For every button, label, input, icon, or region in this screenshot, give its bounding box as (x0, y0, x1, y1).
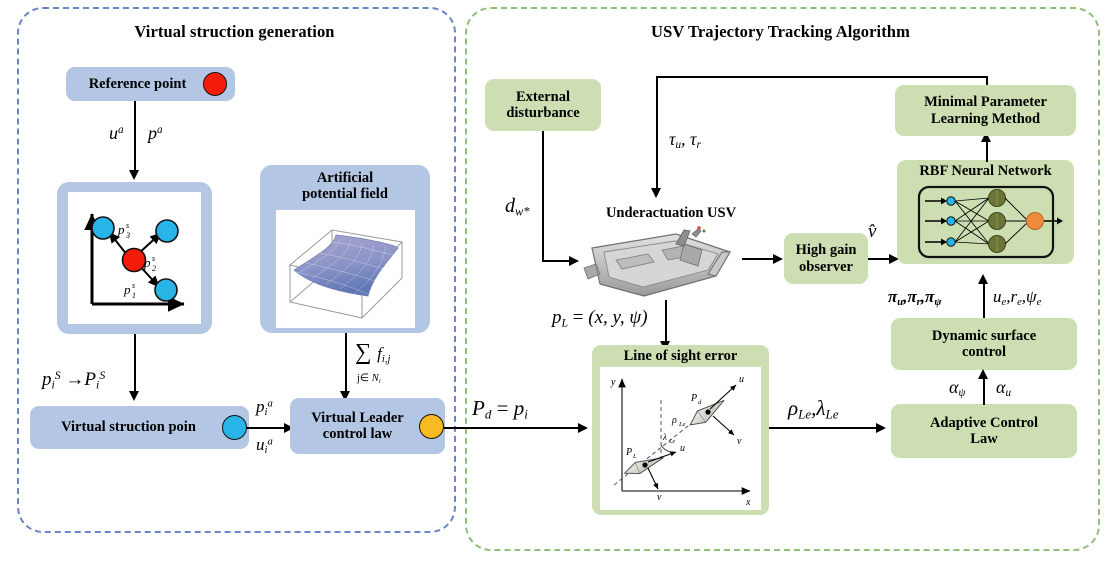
external-disturbance-line1: External (516, 89, 570, 105)
connector-dsc-to-rbf (983, 281, 985, 318)
dsc-line1: Dynamic surface (932, 328, 1036, 344)
connector-structure-to-point (134, 334, 136, 397)
virtual-leader-line1: Virtual Leader (311, 410, 404, 426)
connector-ref-to-structure (134, 101, 136, 176)
box-virtual-struction-point[interactable]: Virtual struction poin (30, 406, 249, 449)
svg-text:L: L (632, 453, 637, 460)
edge-label-alpha-u: αu (996, 378, 1011, 399)
rbf-network-graph (905, 184, 1068, 260)
box-minimal-parameter-learning-method[interactable]: Minimal Parameter Learning Method (895, 85, 1076, 136)
acl-line2: Law (970, 431, 997, 447)
acl-line1: Adaptive Control (930, 415, 1038, 431)
arrowhead-dsc-to-rbf (978, 274, 988, 284)
svg-text:v: v (657, 492, 662, 503)
edge-label-sum-f: ∑ fi,j (355, 340, 390, 365)
virtual-structure-scatter-picture: p 3 s p 2 s p 1 s (68, 192, 201, 324)
box-external-disturbance[interactable]: External disturbance (485, 79, 601, 131)
apf-title-line2: potential field (302, 186, 388, 202)
arrowhead-tau-to-usv (651, 188, 661, 198)
svg-text:d: d (698, 399, 702, 406)
svg-text:Le: Le (668, 439, 675, 445)
svg-text:s: s (152, 254, 155, 263)
svg-text:u: u (739, 374, 744, 385)
svg-text:u: u (680, 443, 685, 454)
arrowhead-acl-to-dsc (978, 369, 988, 379)
virtual-leader-line2: control law (323, 426, 392, 442)
virtual-leader-dot (419, 414, 444, 439)
los-diagram-svg: y x P d u v (600, 367, 761, 510)
apf-picture (276, 210, 415, 328)
svg-text:1: 1 (132, 291, 136, 300)
connector-disturbance-v (542, 131, 544, 262)
los-title: Line of sight error (624, 348, 738, 364)
dsc-line2: control (962, 344, 1006, 360)
virtual-structure-svg: p 3 s p 2 s p 1 s (68, 192, 201, 324)
box-reference-point-label: Reference point (89, 76, 187, 92)
svg-text:ρ: ρ (671, 415, 677, 426)
edge-label-tau: τu, τr (669, 130, 701, 151)
edge-label-p-L: pL = (x, y, ψ) (552, 308, 648, 329)
box-virtual-struction-point-label: Virtual struction poin (61, 419, 196, 435)
mplm-line1: Minimal Parameter (924, 94, 1047, 110)
edge-label-alpha-psi: αψ (949, 378, 965, 399)
edge-label-v-hat: v̂ (868, 222, 876, 241)
arrowhead-ref-to-structure (129, 170, 139, 180)
edge-label-struct-transform: piS →PiS (42, 370, 105, 391)
edge-label-d-w: dw* (505, 196, 529, 218)
edge-label-u-a: ua (109, 124, 124, 142)
edge-label-sum-sub: j∈ Ni (357, 374, 381, 385)
svg-text:s: s (132, 281, 135, 290)
edge-label-error-group: ue,re,ψe (993, 288, 1041, 308)
arrowhead-los-to-acl (876, 423, 886, 433)
svg-text:p: p (143, 255, 151, 270)
connector-tau-h (656, 76, 988, 78)
svg-text:s: s (126, 221, 129, 230)
usv-boat-illustration (580, 222, 745, 306)
panel-right-title: USV Trajectory Tracking Algorithm (465, 22, 1096, 42)
svg-text:P: P (690, 393, 697, 404)
box-high-gain-observer[interactable]: High gain observer (784, 233, 868, 284)
box-dynamic-surface-control[interactable]: Dynamic surface control (891, 318, 1077, 370)
high-gain-line2: observer (799, 259, 853, 275)
reference-point-dot (203, 72, 227, 96)
label-underactuation-usv: Underactuation USV (578, 205, 764, 222)
virtual-struction-point-dot (222, 415, 247, 440)
svg-text:Le: Le (678, 421, 686, 428)
box-adaptive-control-law[interactable]: Adaptive Control Law (891, 404, 1077, 458)
apf-surface-svg (276, 210, 415, 328)
panel-left-title: Virtual struction generation (17, 22, 452, 42)
connector-leader-to-los (444, 427, 586, 429)
connector-tau-v (656, 76, 658, 195)
mplm-line2: Learning Method (931, 111, 1040, 127)
arrowhead-structure-to-point (129, 391, 139, 401)
svg-text:2: 2 (152, 264, 156, 273)
connector-point-to-leader (247, 427, 289, 429)
high-gain-line1: High gain (796, 242, 857, 258)
arrowhead-leader-to-los (578, 423, 588, 433)
svg-text:P: P (625, 447, 632, 458)
svg-text:p: p (117, 222, 125, 237)
connector-acl-to-dsc (983, 375, 985, 405)
edge-label-p-i-a: pia (256, 398, 273, 418)
arrowhead-usv-to-observer (773, 254, 783, 264)
rbf-title: RBF Neural Network (919, 163, 1051, 179)
arrowhead-disturbance-to-usv (569, 256, 579, 266)
connector-apf-to-leader (345, 333, 347, 397)
edge-label-p-d: Pd = pi (472, 398, 528, 421)
connector-los-to-acl (769, 427, 881, 429)
diagram-canvas: Virtual struction generation USV Traject… (0, 0, 1107, 562)
apf-title-line1: Artificial (317, 170, 373, 186)
svg-text:v: v (737, 436, 742, 447)
edge-label-p-a: pa (148, 124, 163, 142)
svg-text:y: y (610, 377, 616, 388)
svg-text:λ: λ (662, 432, 667, 442)
edge-label-pi-group: πu,πr,πψ (888, 288, 941, 308)
edge-label-rho-lambda: ρLe,λLe (788, 398, 839, 421)
svg-text:p: p (123, 282, 131, 297)
external-disturbance-line2: disturbance (506, 105, 579, 121)
svg-text:3: 3 (125, 231, 130, 240)
edge-label-u-i-a: uia (256, 436, 273, 456)
svg-text:x: x (745, 497, 751, 508)
los-diagram-picture: y x P d u v (600, 367, 761, 510)
